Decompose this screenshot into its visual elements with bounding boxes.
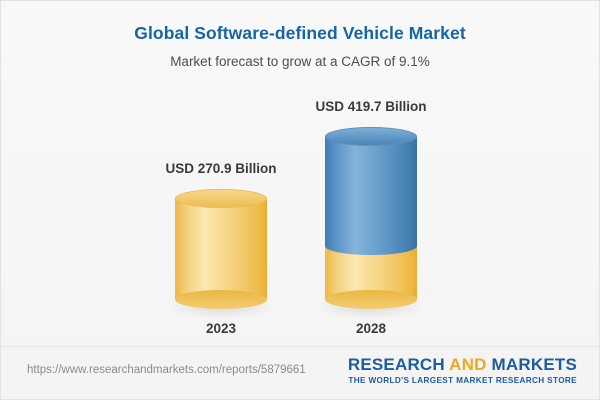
footer: https://www.researchandmarkets.com/repor… xyxy=(1,346,599,399)
bar-group-2028: USD 419.7 Billion 2028 xyxy=(1,79,600,341)
chart-card: Global Software-defined Vehicle Market M… xyxy=(0,0,600,400)
chart-title: Global Software-defined Vehicle Market xyxy=(1,23,599,44)
logo-text-markets: MARKETS xyxy=(487,355,577,374)
value-label-2028: USD 419.7 Billion xyxy=(266,99,476,114)
chart-subtitle: Market forecast to grow at a CAGR of 9.1… xyxy=(1,54,599,69)
x-axis-label-2028: 2028 xyxy=(301,321,441,336)
logo-text-and: AND xyxy=(449,355,486,374)
cylinder-bottom-cap-2028 xyxy=(325,290,417,309)
logo-tagline: THE WORLD'S LARGEST MARKET RESEARCH STOR… xyxy=(348,376,577,386)
cylinder-2028[interactable] xyxy=(325,127,417,309)
cylinder-top-cap-2028 xyxy=(325,127,417,146)
logo-wordmark: RESEARCH AND MARKETS xyxy=(348,355,577,375)
cylinder-growth-segment-2028 xyxy=(325,136,417,246)
logo-text-research: RESEARCH xyxy=(348,355,449,374)
chart-plot-area: USD 270.9 Billion 2023 USD 419.7 Billion xyxy=(1,79,600,341)
cylinder-growth-bottom-edge-2028 xyxy=(325,237,417,255)
research-and-markets-logo[interactable]: RESEARCH AND MARKETS THE WORLD'S LARGEST… xyxy=(348,355,577,385)
report-url[interactable]: https://www.researchandmarkets.com/repor… xyxy=(27,364,306,376)
